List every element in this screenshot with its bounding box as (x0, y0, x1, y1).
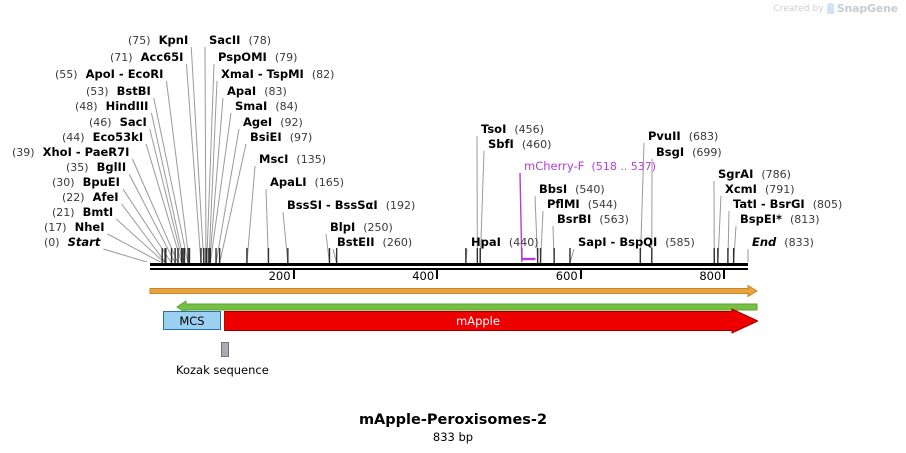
kozak-sequence-marker[interactable] (221, 342, 229, 357)
snapgene-map-canvas: Created by SnapGene (75) KpnI(71) Acc65I… (0, 0, 906, 453)
mcs-feature-box[interactable]: MCS (163, 311, 221, 330)
sequence-ruler: 200400600800 (0, 0, 906, 290)
orange-forward-arrow[interactable] (150, 286, 757, 297)
ruler-tick-mark (293, 270, 295, 279)
mapple-cds-arrow[interactable] (224, 308, 758, 334)
plasmid-title: mApple-Peroxisomes-2 (0, 412, 906, 428)
ruler-bar-upper (150, 263, 748, 266)
ruler-tick-label-200: 200 (269, 269, 291, 283)
kozak-sequence-label: Kozak sequence (176, 363, 269, 377)
ruler-tick-mark (580, 270, 582, 279)
ruler-bar-lower (150, 268, 748, 270)
mapple-arrow-shape (224, 309, 758, 333)
ruler-tick-label-400: 400 (412, 269, 434, 283)
ruler-tick-mark (723, 270, 725, 279)
ruler-tick-label-600: 600 (556, 269, 578, 283)
plasmid-length: 833 bp (0, 430, 906, 444)
mcs-label: MCS (179, 314, 204, 328)
enzyme-tick-marks (0, 0, 906, 264)
ruler-tick-label-800: 800 (699, 269, 721, 283)
ruler-tick-mark (436, 270, 438, 279)
